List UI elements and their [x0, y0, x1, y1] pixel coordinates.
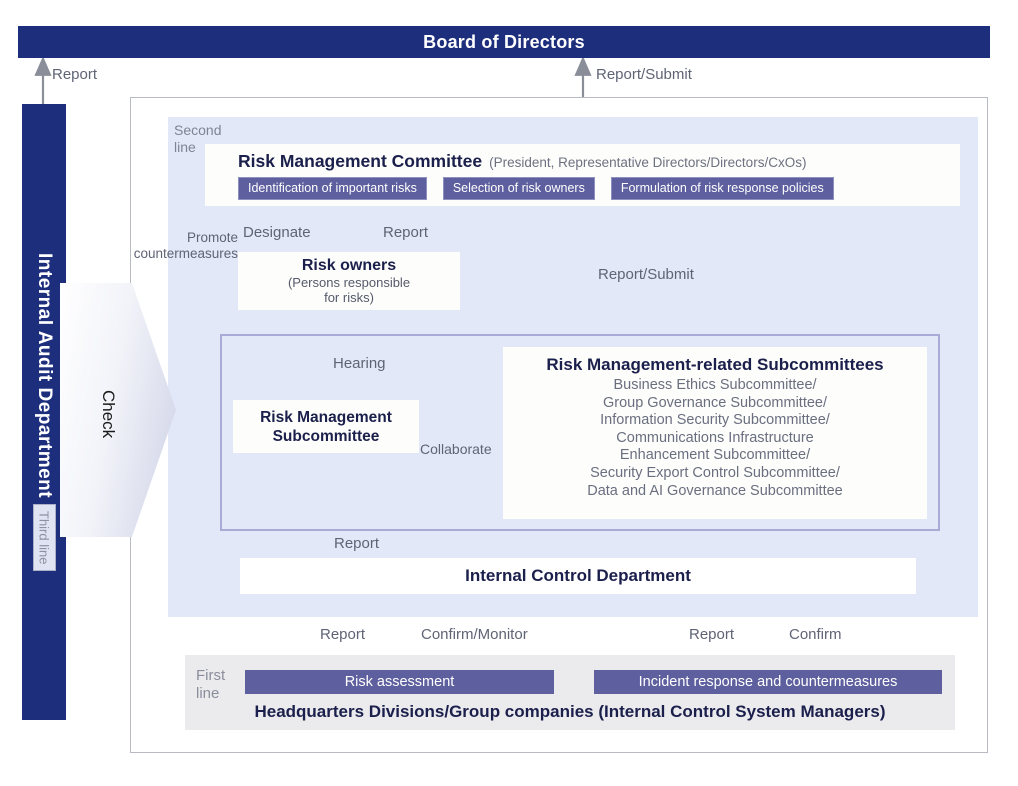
label-promote-countermeasures: Promote countermeasures — [110, 230, 238, 262]
rmc-chip-selection: Selection of risk owners — [443, 177, 595, 200]
related-subcommittees-box: Risk Management-related Subcommittees Bu… — [503, 347, 927, 519]
first-line-label: First line — [196, 667, 242, 703]
board-of-directors-title: Board of Directors — [423, 32, 585, 53]
risk-assessment-bar: Risk assessment — [245, 670, 554, 694]
related-subcommittee-item: Communications Infrastructure — [616, 430, 813, 448]
check-arrow-label: Check — [78, 390, 118, 438]
rmc-title-row: Risk Management Committee (President, Re… — [238, 151, 960, 172]
label-report-rmc: Report — [383, 224, 428, 241]
label-report-submit-mid: Report/Submit — [598, 266, 694, 283]
label-report-left-bottom: Report — [320, 626, 365, 643]
rmc-title: Risk Management Committee — [238, 151, 482, 172]
internal-audit-department-title: Internal Audit Department — [33, 253, 55, 498]
label-report-submit-top: Report/Submit — [596, 66, 692, 83]
related-subcommittee-item: Information Security Subcommittee/ — [600, 412, 830, 430]
internal-control-department-box: Internal Control Department — [240, 558, 916, 594]
label-hearing: Hearing — [333, 355, 386, 372]
risk-management-committee-box: Risk Management Committee (President, Re… — [205, 144, 960, 206]
label-confirm: Confirm — [789, 626, 842, 643]
related-subcommittee-item: Group Governance Subcommittee/ — [603, 395, 827, 413]
second-line-label-row1: Second — [174, 122, 244, 139]
risk-owners-box: Risk owners (Persons responsible for ris… — [238, 252, 460, 310]
label-collaborate: Collaborate — [420, 441, 492, 458]
label-report-icd: Report — [334, 535, 379, 552]
label-designate: Designate — [243, 224, 311, 241]
rmc-chip-row: Identification of important risks Select… — [238, 177, 960, 200]
first-line-label-row2: line — [196, 685, 242, 703]
incident-response-bar: Incident response and countermeasures — [594, 670, 942, 694]
rmc-chip-identification: Identification of important risks — [238, 177, 427, 200]
board-of-directors-box: Board of Directors — [18, 26, 990, 58]
related-subcommittee-item: Enhancement Subcommittee/ — [620, 447, 810, 465]
risk-owners-sub-line1: (Persons responsible — [288, 275, 410, 290]
third-line-badge: Third line — [33, 504, 56, 571]
label-promote-line1: Promote — [110, 230, 238, 246]
first-line-label-row1: First — [196, 667, 242, 685]
related-subcommittees-title: Risk Management-related Subcommittees — [546, 355, 883, 375]
related-subcommittee-item: Security Export Control Subcommittee/ — [590, 465, 840, 483]
headquarters-divisions-label: Headquarters Divisions/Group companies (… — [185, 702, 955, 722]
rm-subcommittee-line2: Subcommittee — [273, 427, 380, 446]
rm-subcommittee-line1: Risk Management — [260, 408, 392, 427]
label-confirm-monitor: Confirm/Monitor — [421, 626, 528, 643]
rmc-chip-formulation: Formulation of risk response policies — [611, 177, 834, 200]
label-report-right-bottom: Report — [689, 626, 734, 643]
internal-control-department-title: Internal Control Department — [465, 566, 691, 586]
incident-response-label: Incident response and countermeasures — [639, 674, 898, 690]
related-subcommittee-item: Business Ethics Subcommittee/ — [613, 377, 816, 395]
related-subcommittee-item: Data and AI Governance Subcommittee — [587, 483, 843, 501]
label-promote-line2: countermeasures — [110, 246, 238, 262]
risk-owners-title: Risk owners — [302, 257, 396, 275]
internal-audit-department-bar: Internal Audit Department Third line — [22, 104, 66, 720]
rmc-subtitle: (President, Representative Directors/Dir… — [489, 155, 806, 170]
label-report-top-left: Report — [52, 66, 97, 83]
risk-assessment-label: Risk assessment — [345, 674, 455, 690]
risk-owners-sub-line2: for risks) — [324, 290, 374, 305]
risk-management-subcommittee-box: Risk Management Subcommittee — [233, 400, 419, 453]
risk-management-structure-diagram: Board of Directors Second line Risk Mana… — [0, 0, 1018, 786]
